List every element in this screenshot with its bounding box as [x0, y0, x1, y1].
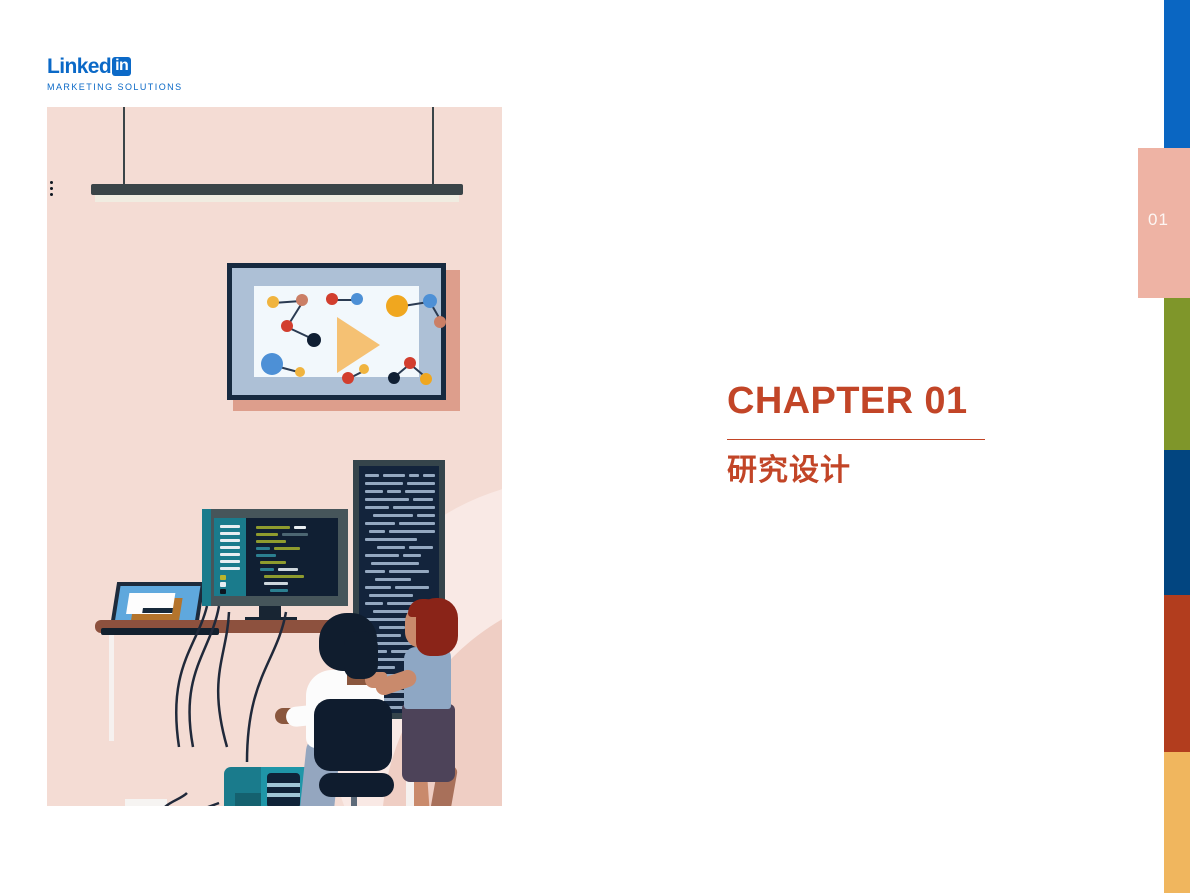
rail-segment-rust [1164, 595, 1190, 752]
monitor-indicator-dots [50, 181, 54, 199]
chapter-subtitle: 研究设计 [727, 453, 985, 489]
graph-node [281, 320, 293, 332]
graph-node [267, 296, 279, 308]
lamp-glow [95, 194, 459, 202]
wall-screen-content [254, 286, 419, 377]
seated-person-hair-back [344, 631, 378, 679]
play-triangle-icon [337, 317, 380, 373]
chapter-title: CHAPTER 01 [727, 382, 985, 422]
graph-node [342, 372, 354, 384]
logo-subtitle: MARKETING SOLUTIONS [47, 82, 183, 92]
wall-screen-mat [232, 268, 441, 395]
graph-node [386, 295, 408, 317]
logo-in-badge: in [112, 57, 131, 76]
graph-node [307, 333, 321, 347]
lamp-cord-left [123, 107, 125, 185]
office-chair-seat [319, 773, 394, 797]
pc-tower-right [261, 767, 306, 806]
wall-outlet [125, 799, 167, 806]
page-number-tab: 01 [1138, 148, 1190, 298]
graph-node [351, 293, 363, 305]
graph-node [261, 353, 283, 375]
rail-segment-blue [1164, 0, 1190, 148]
linkedin-marketing-solutions-logo: Linkedin MARKETING SOLUTIONS [47, 56, 183, 92]
graph-node [423, 294, 437, 308]
chapter-illustration [47, 107, 502, 806]
standing-woman-hair [416, 598, 458, 656]
slide-canvas: Linkedin MARKETING SOLUTIONS [0, 0, 1190, 893]
page-number: 01 [1148, 210, 1169, 230]
chapter-heading-block: CHAPTER 01 研究设计 [727, 382, 985, 489]
graph-node [295, 367, 305, 377]
office-chair-backrest [314, 699, 392, 771]
graph-node [420, 373, 432, 385]
color-rail [1164, 0, 1190, 893]
rail-segment-amber [1164, 752, 1190, 893]
rail-segment-olive [1164, 298, 1190, 450]
graph-node [404, 357, 416, 369]
monitor-screen [214, 518, 338, 596]
pc-drive-bay [267, 773, 300, 806]
laptop-base [101, 628, 219, 635]
desk-leg [109, 632, 114, 741]
graph-node [434, 316, 446, 328]
wall-screen [227, 263, 446, 400]
laptop-doc-line [142, 608, 173, 613]
graph-node [326, 293, 338, 305]
lamp-cord-right [432, 107, 434, 185]
monitor-side-panel [202, 509, 211, 606]
graph-node [388, 372, 400, 384]
graph-node [296, 294, 308, 306]
rail-segment-navy [1164, 450, 1190, 595]
desktop-monitor [202, 509, 348, 606]
logo-wordmark: Linked [47, 56, 111, 77]
editor-sidebar [214, 518, 246, 596]
ceiling-lamp [91, 184, 463, 195]
chapter-divider [727, 439, 985, 440]
standing-woman-skirt [402, 704, 455, 782]
